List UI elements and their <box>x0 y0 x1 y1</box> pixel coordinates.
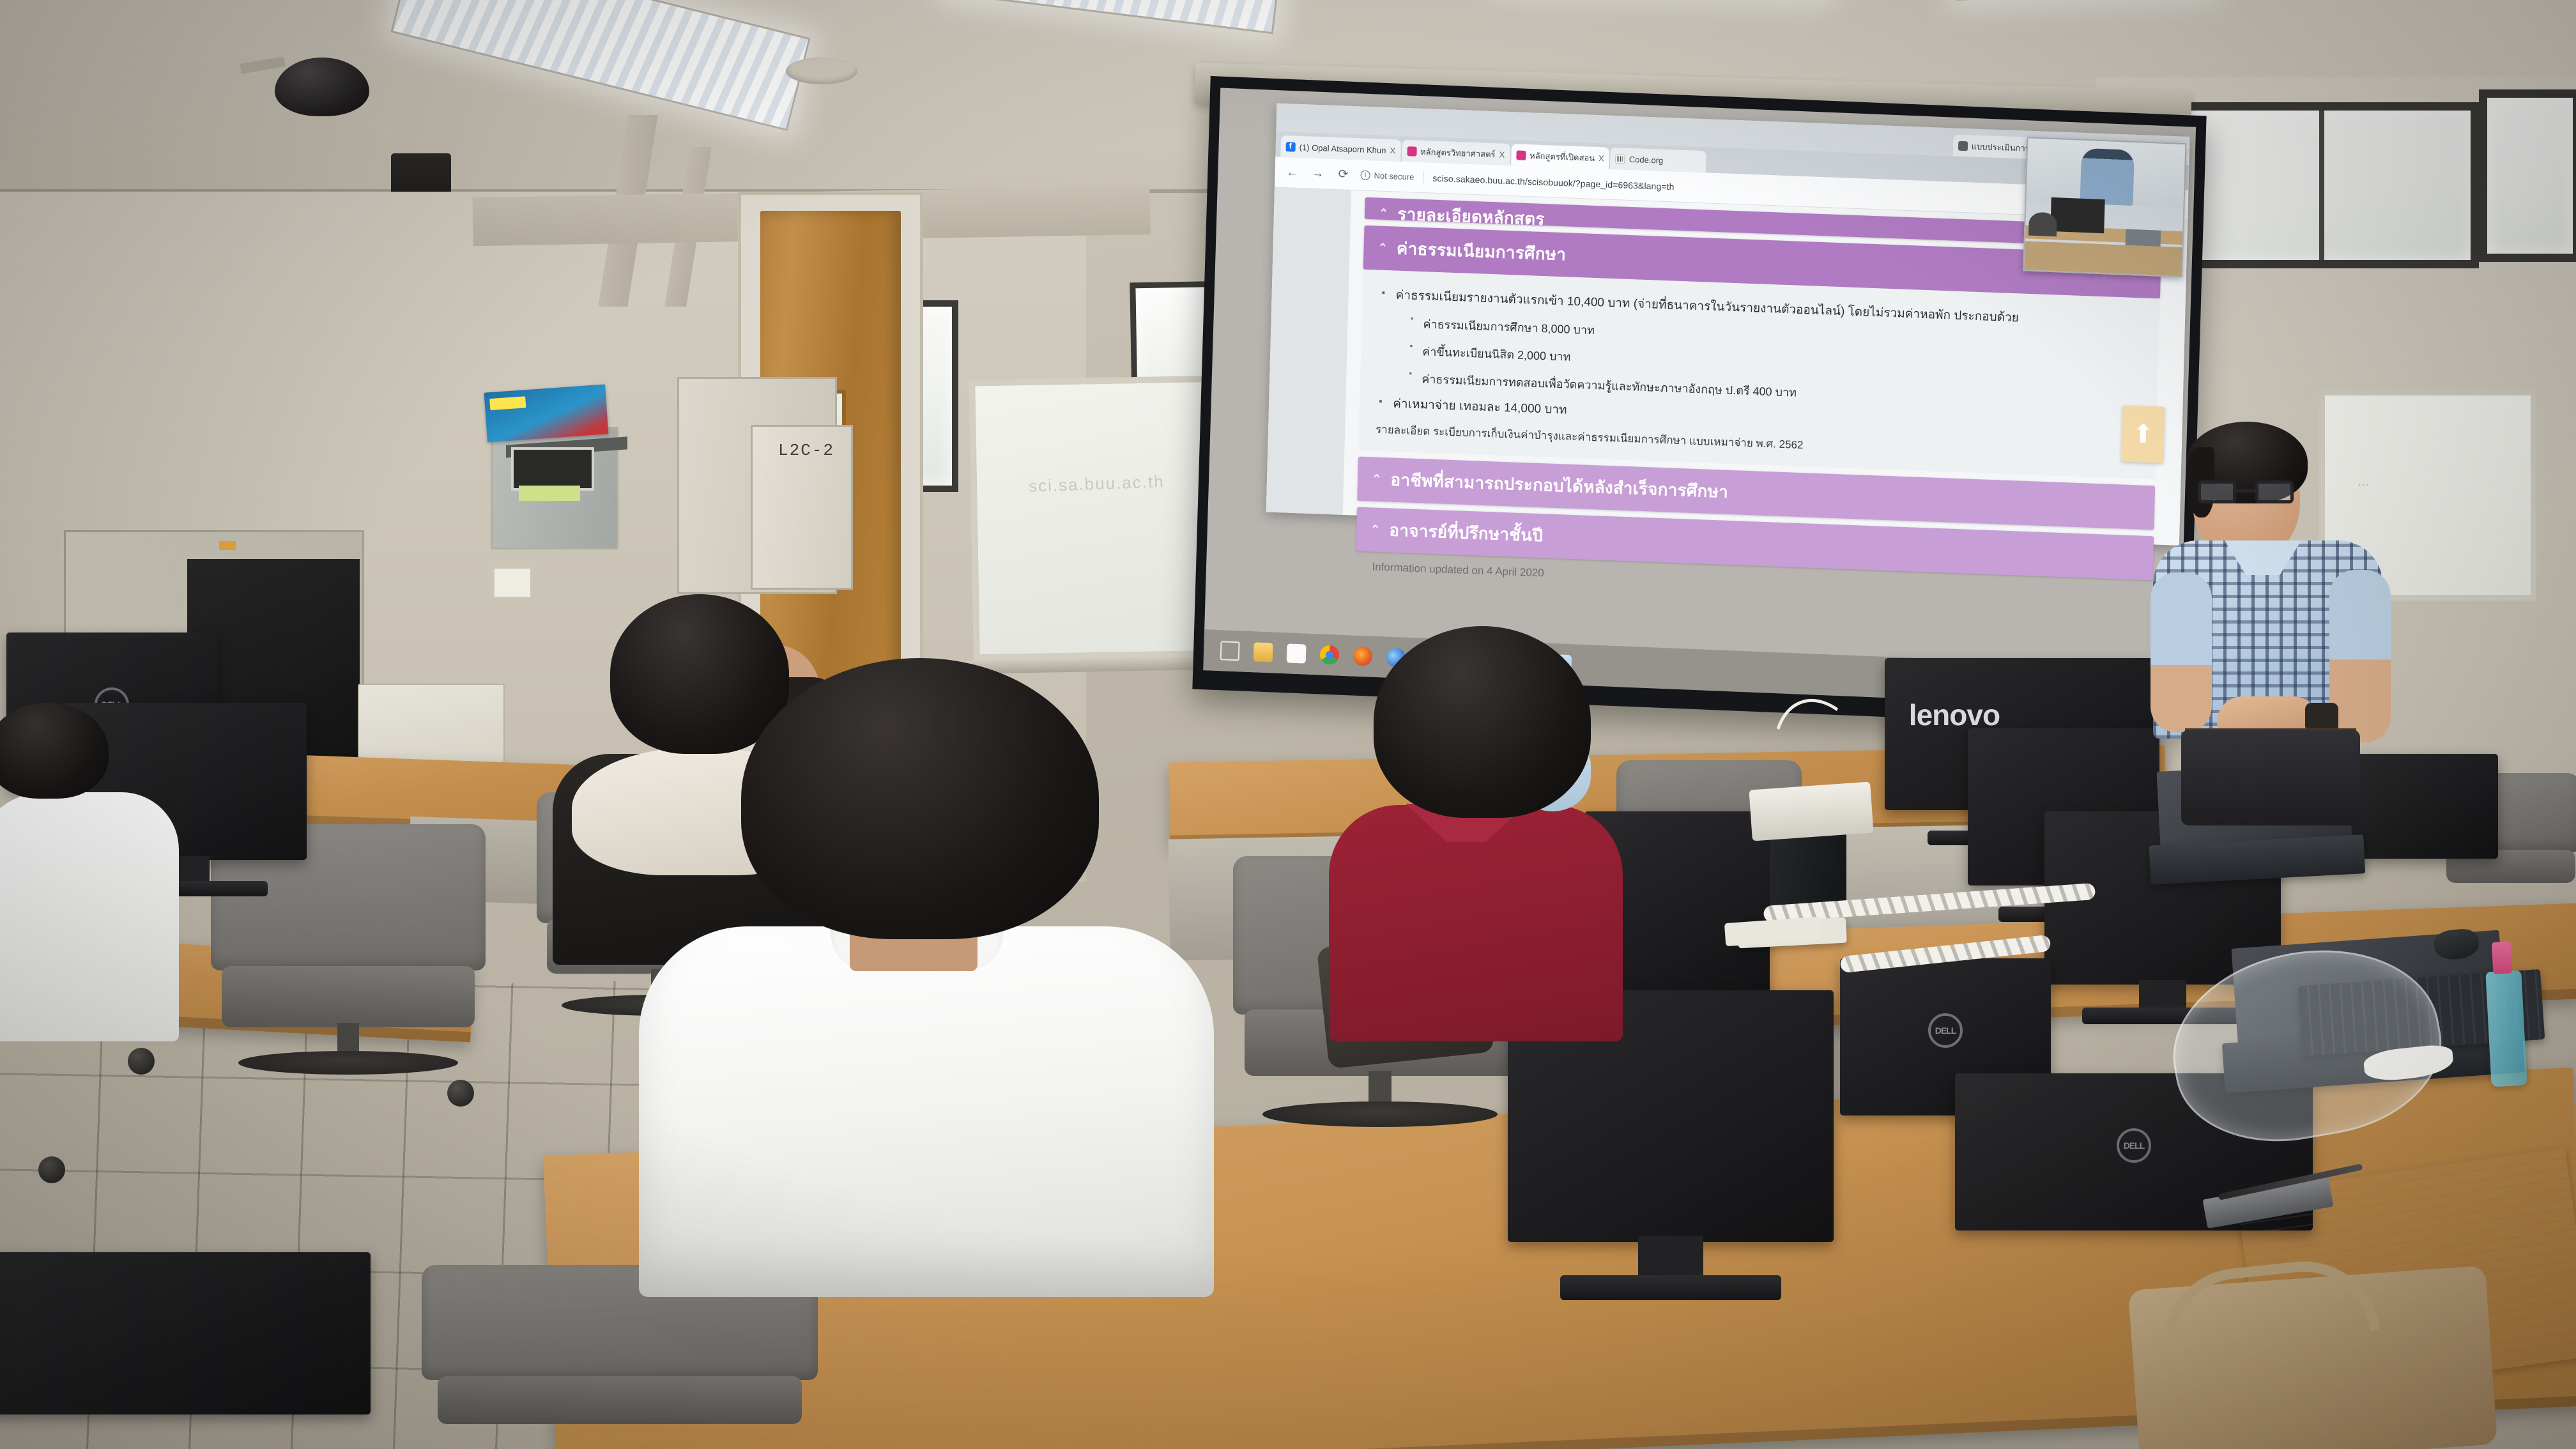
task-view-icon[interactable] <box>1220 641 1240 661</box>
window-right-2 <box>2479 89 2576 262</box>
panel-label: L2C-2 <box>778 441 834 460</box>
chevron-icon: ⌃ <box>1379 207 1389 221</box>
security-chip[interactable]: i Not secure <box>1360 170 1414 181</box>
chair-caster <box>447 1080 474 1107</box>
dell-logo: DELL <box>2117 1128 2151 1163</box>
monitor-foreground-left <box>0 1252 371 1449</box>
facebook-icon <box>1286 142 1296 152</box>
meter-display <box>511 447 594 491</box>
student-maroon-polo <box>1329 626 1623 1035</box>
dell-logo: DELL <box>1928 1013 1963 1048</box>
file-explorer-icon[interactable] <box>1253 642 1273 662</box>
microsoft-store-icon[interactable] <box>1287 643 1307 663</box>
window-right-1 <box>2159 102 2479 268</box>
chair-caster <box>128 1048 155 1075</box>
tab-label: หลักสูตรที่เปิดสอน <box>1529 149 1595 165</box>
video-conference-window[interactable] <box>2023 137 2186 277</box>
chair-caster <box>38 1156 65 1183</box>
chevron-icon: ⌃ <box>1370 523 1381 537</box>
classroom-scene: L2C-2 sci.sa.buu.ac.th ... แบบประเมินการ… <box>0 0 2576 1449</box>
instructor-presenter <box>2153 422 2383 818</box>
browser-tab-active[interactable]: หลักสูตรที่เปิดสอน X <box>1511 144 1610 169</box>
student-white-shirt <box>639 658 1214 1291</box>
hand-sanitizer-bottle[interactable] <box>2485 970 2527 1087</box>
close-icon[interactable]: X <box>1390 146 1395 155</box>
section-heading: ค่าธรรมเนียมการศึกษา <box>1396 236 1566 268</box>
accordion-label: อาชีพที่สามารถประกอบได้หลังสำเร็จการศึกษ… <box>1390 467 1729 505</box>
close-icon[interactable]: X <box>1499 149 1505 159</box>
address-bar-url[interactable]: sciso.sakaeo.buu.ac.th/scisobuuok/?page_… <box>1432 172 1675 192</box>
tab-label: Code.org <box>1629 154 1664 165</box>
tab-label: หลักสูตรวิทยาศาสตร์ <box>1420 144 1496 160</box>
wall-outlet[interactable] <box>493 567 532 598</box>
back-icon[interactable]: ← <box>1284 165 1301 180</box>
remote-monitor <box>2051 197 2105 234</box>
remote-participant <box>2080 148 2135 206</box>
accordion-label: อาจารย์ที่ปรึกษาชั้นปี <box>1389 517 1544 549</box>
tab-label: (1) Opal Atsaporn Khun <box>1299 142 1386 155</box>
pink-dot-icon <box>1407 146 1416 157</box>
chevron-icon: ⌃ <box>1377 241 1388 256</box>
divider <box>1423 171 1424 185</box>
chevron-icon: ⌃ <box>1372 473 1382 487</box>
close-icon[interactable]: X <box>1598 153 1604 163</box>
lenovo-logo: lenovo <box>1909 698 2000 732</box>
presenter-trousers <box>2181 730 2360 825</box>
browser-tab-codeorg[interactable]: Code.org <box>1610 148 1706 172</box>
page-left-gutter <box>1266 188 1351 515</box>
browser-tab-curriculum[interactable]: หลักสูตรวิทยาศาสตร์ X <box>1402 140 1510 165</box>
smoke-detector <box>786 57 857 84</box>
security-label: Not secure <box>1374 171 1414 181</box>
gray-globe-icon <box>1958 141 1967 151</box>
wall-poster-sticker <box>484 384 609 442</box>
code-org-icon <box>1616 154 1625 164</box>
eyeglasses-icon <box>2198 480 2294 503</box>
browser-tab-facebook[interactable]: (1) Opal Atsaporn Khun X <box>1280 135 1400 162</box>
info-icon: i <box>1360 170 1370 180</box>
meter-lcd <box>519 486 580 501</box>
student-far-left <box>0 754 179 1041</box>
forward-icon[interactable]: → <box>1309 166 1326 181</box>
reload-icon[interactable]: ⟳ <box>1335 167 1352 182</box>
pink-dot-icon <box>1516 150 1526 160</box>
tuition-fee-body: ค่าธรรมเนียมรายงานตัวแรกเข้า 10,400 บาท … <box>1358 270 2160 480</box>
